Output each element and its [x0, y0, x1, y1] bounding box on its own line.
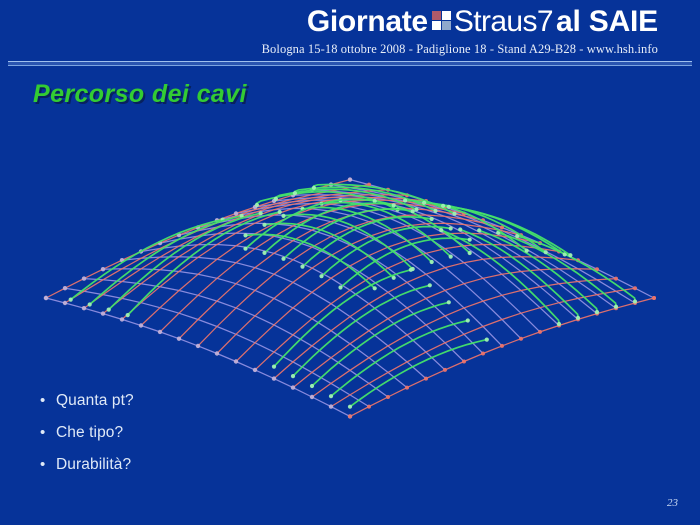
page-title: Percorso dei cavi — [33, 80, 247, 109]
bullet-marker-icon: • — [40, 425, 56, 440]
bullet-label: Durabilità? — [56, 456, 131, 474]
bullet-marker-icon: • — [40, 457, 56, 472]
brand-straus7: Straus7 — [454, 5, 553, 38]
straus7-logo-icon — [432, 11, 451, 30]
bullet-list: • Quanta pt? • Che tipo? • Durabilità? — [40, 392, 370, 488]
page-number: 23 — [667, 497, 678, 509]
list-item: • Quanta pt? — [40, 392, 370, 410]
brand-al-saie: al SAIE — [556, 5, 658, 38]
header-subtitle: Bologna 15-18 ottobre 2008 - Padiglione … — [262, 42, 658, 57]
header-divider — [8, 61, 692, 66]
brand-giornate: Giornate — [307, 5, 428, 38]
list-item: • Durabilità? — [40, 456, 370, 474]
list-item: • Che tipo? — [40, 424, 370, 442]
bullet-marker-icon: • — [40, 393, 56, 408]
slide-header: Giornate Straus7al SAIE Bologna 15-18 ot… — [0, 0, 700, 62]
bullet-label: Che tipo? — [56, 424, 123, 442]
bullet-label: Quanta pt? — [56, 392, 134, 410]
brand-title: Giornate Straus7al SAIE — [307, 7, 658, 37]
presentation-slide: Giornate Straus7al SAIE Bologna 15-18 ot… — [0, 0, 700, 525]
